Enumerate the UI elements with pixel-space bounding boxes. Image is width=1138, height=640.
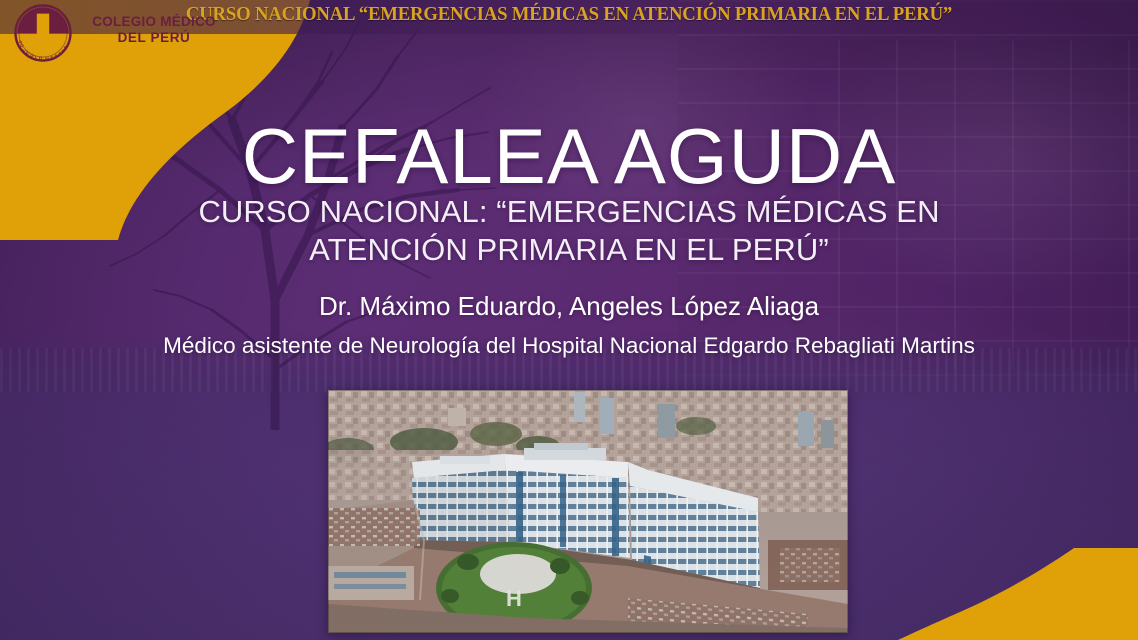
- slide-title: CEFALEA AGUDA: [0, 110, 1138, 202]
- hospital-aerial-photo: H: [328, 390, 848, 633]
- svg-text:I: I: [35, 55, 37, 60]
- colegio-medico-seal-icon: C O L E G I O M E D I C O: [12, 4, 74, 62]
- logo-wordmark-line-1: COLEGIO MÉDICO: [86, 14, 222, 30]
- slide-subtitle: CURSO NACIONAL: “EMERGENCIAS MÉDICAS EN …: [140, 193, 998, 269]
- presenter-name: Dr. Máximo Eduardo, Angeles López Aliaga: [0, 289, 1138, 323]
- svg-text:O: O: [39, 56, 44, 61]
- svg-text:E: E: [50, 55, 54, 61]
- colegio-medico-logo: C O L E G I O M E D I C O COLEGIO MÉDICO…: [8, 2, 223, 62]
- presentation-slide: CURSO NACIONAL “EMERGENCIAS MÉDICAS EN A…: [0, 0, 1138, 640]
- presenter-affiliation: Médico asistente de Neurología del Hospi…: [0, 331, 1138, 361]
- logo-wordmark-line-2: DEL PERÚ: [86, 30, 222, 46]
- logo-wordmark: COLEGIO MÉDICO DEL PERÚ: [86, 14, 222, 46]
- gold-corner-shape-bottom-right: [898, 548, 1138, 640]
